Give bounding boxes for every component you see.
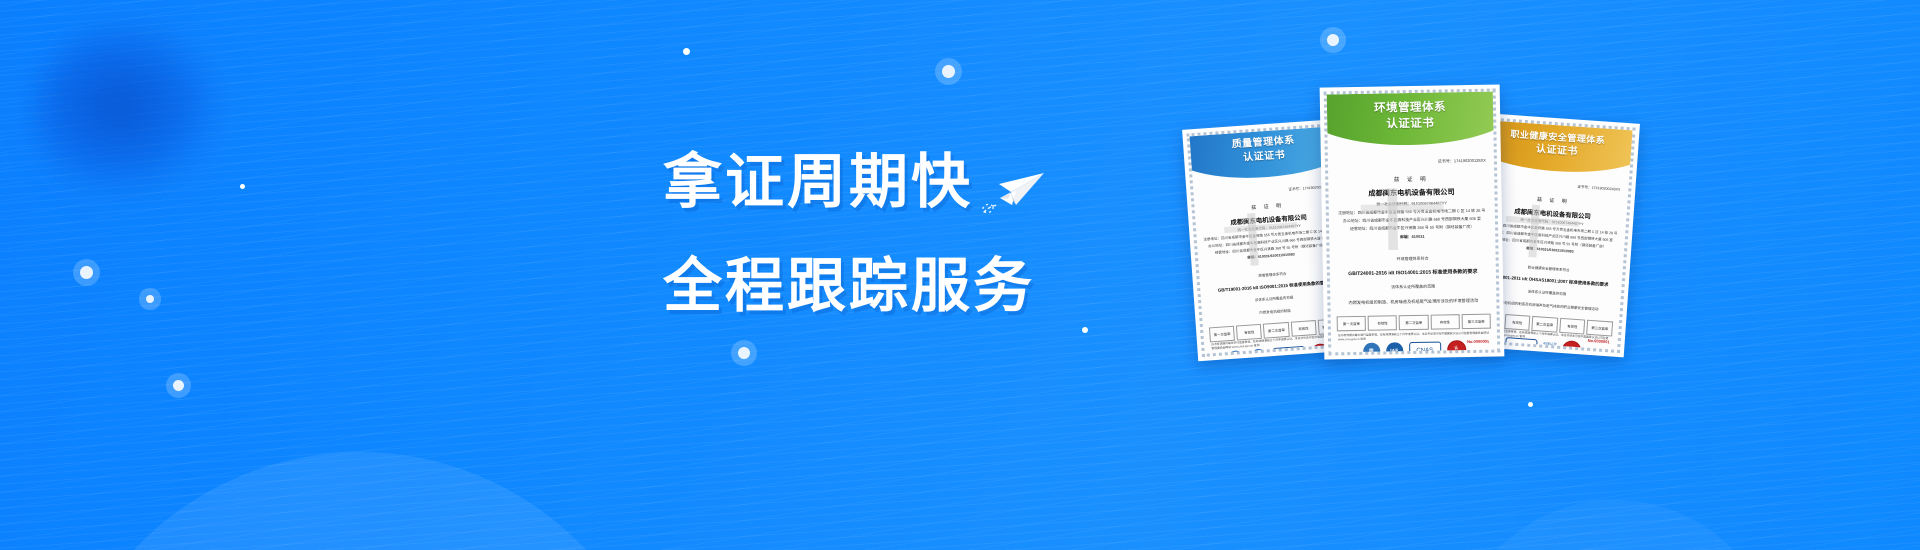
dot-plain-3 xyxy=(1082,327,1088,333)
dot-halo-4 xyxy=(738,347,750,359)
headline-line-2: 全程跟踪服务 xyxy=(663,244,1035,328)
cnas-logo: CNAS xyxy=(1272,346,1305,357)
certificate-number: No.0000001 xyxy=(1467,339,1489,344)
dot-plain-1 xyxy=(240,184,245,189)
dot-halo-1 xyxy=(80,266,93,279)
red-seal-logo: 认证 xyxy=(1447,340,1466,355)
certificate-title-line2: 认证证书 xyxy=(1327,115,1493,134)
dot-plain-2 xyxy=(683,48,690,55)
dot-halo-5 xyxy=(942,65,955,78)
zhou-logo: 周 xyxy=(1226,350,1244,357)
certificates-group: 质量管理体系 认证证书 证书号：174190200126XX 兹 证 明 成都闽… xyxy=(1190,78,1890,398)
background-circle-large xyxy=(50,452,670,550)
certificate-environment[interactable]: 环境管理体系 认证证书 证书号：174190200128XX 兹 证 明 成都闽… xyxy=(1320,84,1505,359)
dot-halo-2 xyxy=(146,295,154,303)
paper-plane-icon xyxy=(978,158,1048,216)
certificate-scope-label: 该体系认证所覆盖的范围 xyxy=(1207,292,1341,307)
background-glow-blob xyxy=(30,20,240,210)
audit-box: 有效性 xyxy=(1430,314,1459,330)
certificate-scope-label: 该体系认证所覆盖的范围 xyxy=(1336,283,1490,291)
certificate-title: 环境管理体系 认证证书 xyxy=(1327,99,1494,134)
audit-box: 有效性 xyxy=(1559,318,1586,335)
certificate-serial: 证书号：174190200128XX xyxy=(1438,158,1486,165)
audit-box: 有效性 xyxy=(1504,314,1531,331)
promo-banner: 拿证周期快 全程跟踪服务 质量管理体系 认证证书 证书号：1741 xyxy=(0,0,1920,550)
certificate-scope: 内燃发电机组的制造 xyxy=(1208,305,1342,320)
red-seal-logo: 认证 xyxy=(1562,340,1582,353)
certificate-inner-frame: 环境管理体系 认证证书 证书号：174190200128XX 兹 证 明 成都闽… xyxy=(1324,89,1501,356)
certificate-serial: 证书号：174190200248XX xyxy=(1577,185,1620,193)
audit-box: 第一次监审 xyxy=(1337,316,1366,332)
audit-box: 第二次监审 xyxy=(1531,316,1558,333)
dot-halo-6 xyxy=(1327,34,1339,46)
iaf-logo: IAF xyxy=(1249,349,1267,357)
certificate-scope: 内燃发电机组的制造、机房噪音及机组尾气处理所涉及的环境管理活动 xyxy=(1336,298,1490,306)
background-circle-far-right xyxy=(1450,500,1780,550)
audit-box: 有效性 xyxy=(1368,315,1397,331)
cnas-logo: CNAS xyxy=(1504,337,1537,353)
china-cert-logo: 中国认可国际互认管理体系 xyxy=(1542,342,1556,353)
audit-box: 第三次监审 xyxy=(1461,314,1490,330)
audit-box: 第三次监审 xyxy=(1587,320,1614,337)
cnas-logo: CNAS xyxy=(1409,342,1441,356)
certificate-heading: 兹 证 明 xyxy=(1328,174,1494,185)
dot-halo-3 xyxy=(173,380,184,391)
zhou-logo: 周 xyxy=(1363,343,1380,356)
dot-plain-4 xyxy=(1528,402,1533,407)
certificate-standard: GB/T24001-2016 idt ISO14001:2015 标准使用条款的… xyxy=(1330,268,1496,278)
certificate-audit-boxes: 第一次监审 有效性 第二次监审 有效性 第三次监审 xyxy=(1337,314,1491,332)
iaf-logo: IAF xyxy=(1386,342,1403,355)
audit-box: 第二次监审 xyxy=(1399,315,1428,331)
